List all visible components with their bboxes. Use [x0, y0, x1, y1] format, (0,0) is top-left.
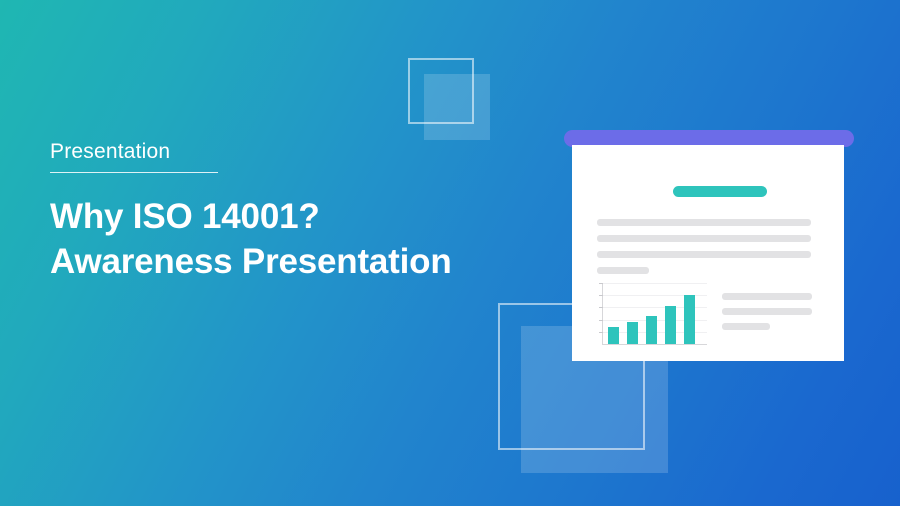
- body-line-4: [597, 267, 649, 274]
- chart-y-axis: [602, 283, 603, 345]
- chart-bar-4: [665, 306, 676, 344]
- chart-bars: [608, 283, 707, 344]
- chart-y-tick: [599, 332, 603, 333]
- eyebrow-underline: [50, 172, 218, 173]
- page-title: Why ISO 14001? Awareness Presentation: [50, 195, 550, 285]
- chart-y-tick: [599, 320, 603, 321]
- eyebrow-label: Presentation: [50, 140, 170, 172]
- slide-card-body: [572, 145, 844, 361]
- mini-bar-chart: [602, 283, 707, 345]
- slide-title-pill: [673, 186, 767, 197]
- hero-text-block: Presentation Why ISO 14001? Awareness Pr…: [50, 140, 550, 285]
- body-line-1: [597, 219, 811, 226]
- chart-bar-5: [684, 295, 695, 344]
- chart-y-tick: [599, 283, 603, 284]
- chart-bar-3: [646, 316, 657, 344]
- slide-cover-canvas: Presentation Why ISO 14001? Awareness Pr…: [0, 0, 900, 506]
- side-line-1: [722, 293, 812, 300]
- chart-bar-1: [608, 327, 619, 344]
- chart-x-axis: [602, 344, 707, 345]
- side-line-3: [722, 323, 770, 330]
- top-square-outline-decoration: [408, 58, 474, 124]
- slide-card-illustration: [564, 130, 854, 365]
- body-line-2: [597, 235, 811, 242]
- body-line-3: [597, 251, 811, 258]
- chart-bar-2: [627, 322, 638, 344]
- chart-y-tick: [599, 307, 603, 308]
- side-line-2: [722, 308, 812, 315]
- chart-y-tick: [599, 295, 603, 296]
